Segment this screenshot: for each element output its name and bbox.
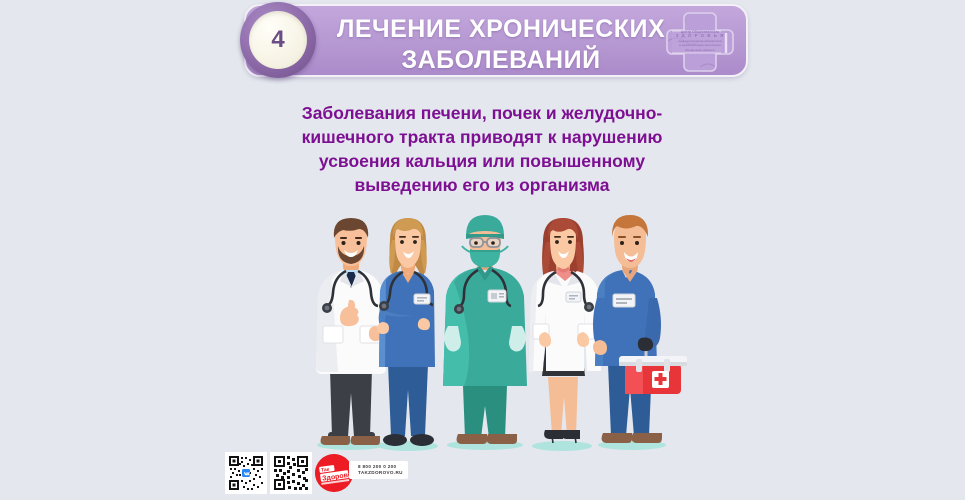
figure-paramedic-blue-scrubs-kit (593, 215, 687, 443)
page-title: ЛЕЧЕНИЕ ХРОНИЧЕСКИХ ЗАБОЛЕВАНИЙ (306, 14, 696, 76)
medical-team-illustration (300, 214, 700, 454)
takzdorovo-contact: 8 800 200 0 200 TAKZDOROVO.RU (349, 461, 408, 479)
qr-code-vk[interactable] (225, 452, 267, 494)
header-banner: ЛЕЧЕНИЕ ХРОНИЧЕСКИХ ЗАБОЛЕВАНИЙ (244, 4, 748, 77)
slide-root: ЛЕЧЕНИЕ ХРОНИЧЕСКИХ ЗАБОЛЕВАНИЙ (0, 0, 965, 500)
figure-doctor-white-coat-beard (316, 218, 386, 445)
takzdorovo-logo[interactable]: Так Здорово! (315, 454, 353, 492)
step-number: 4 (271, 28, 284, 52)
step-number-badge: 4 (240, 2, 316, 78)
takzdorovo-site: TAKZDOROVO.RU (358, 470, 403, 476)
logo-text-block: Центр Общественного З Д О Р О В Ь Я меди… (672, 30, 728, 52)
figure-nurse-blue-scrubs (377, 218, 435, 446)
figure-doctor-woman-white-coat (529, 218, 601, 443)
organization-logo: Центр Общественного З Д О Р О В Ь Я меди… (666, 11, 734, 73)
qr-code-site[interactable] (270, 452, 312, 494)
body-text: Заболевания печени, почек и желудочно- к… (222, 101, 742, 197)
logo-line-3: медицинской профилактики и реабилитации … (672, 39, 728, 52)
step-number-badge-inner: 4 (249, 11, 307, 69)
svg-text:Так: Так (321, 467, 330, 474)
figure-surgeon-green-gown (443, 215, 527, 444)
